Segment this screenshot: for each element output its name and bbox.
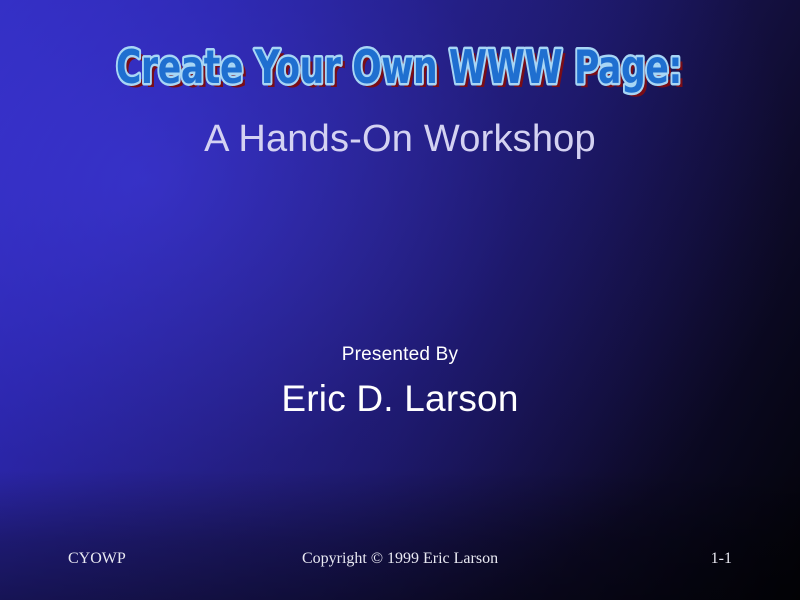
slide-subtitle: A Hands-On Workshop — [0, 118, 800, 161]
wordart-fill-layer: Create Your Own WWW Page: — [116, 40, 682, 94]
presentation-slide: Create Your Own WWW Page: Create Your Ow… — [0, 0, 800, 600]
presenter-name: Eric D. Larson — [0, 378, 800, 420]
footer-copyright: Copyright © 1999 Eric Larson — [0, 550, 800, 568]
presented-by-label: Presented By — [0, 344, 800, 366]
wordart-svg: Create Your Own WWW Page: Create Your Ow… — [90, 40, 710, 102]
slide-title-wordart: Create Your Own WWW Page: Create Your Ow… — [0, 40, 800, 102]
slide-footer: CYOWP Copyright © 1999 Eric Larson 1-1 — [0, 550, 800, 570]
footer-page-number: 1-1 — [711, 550, 732, 568]
